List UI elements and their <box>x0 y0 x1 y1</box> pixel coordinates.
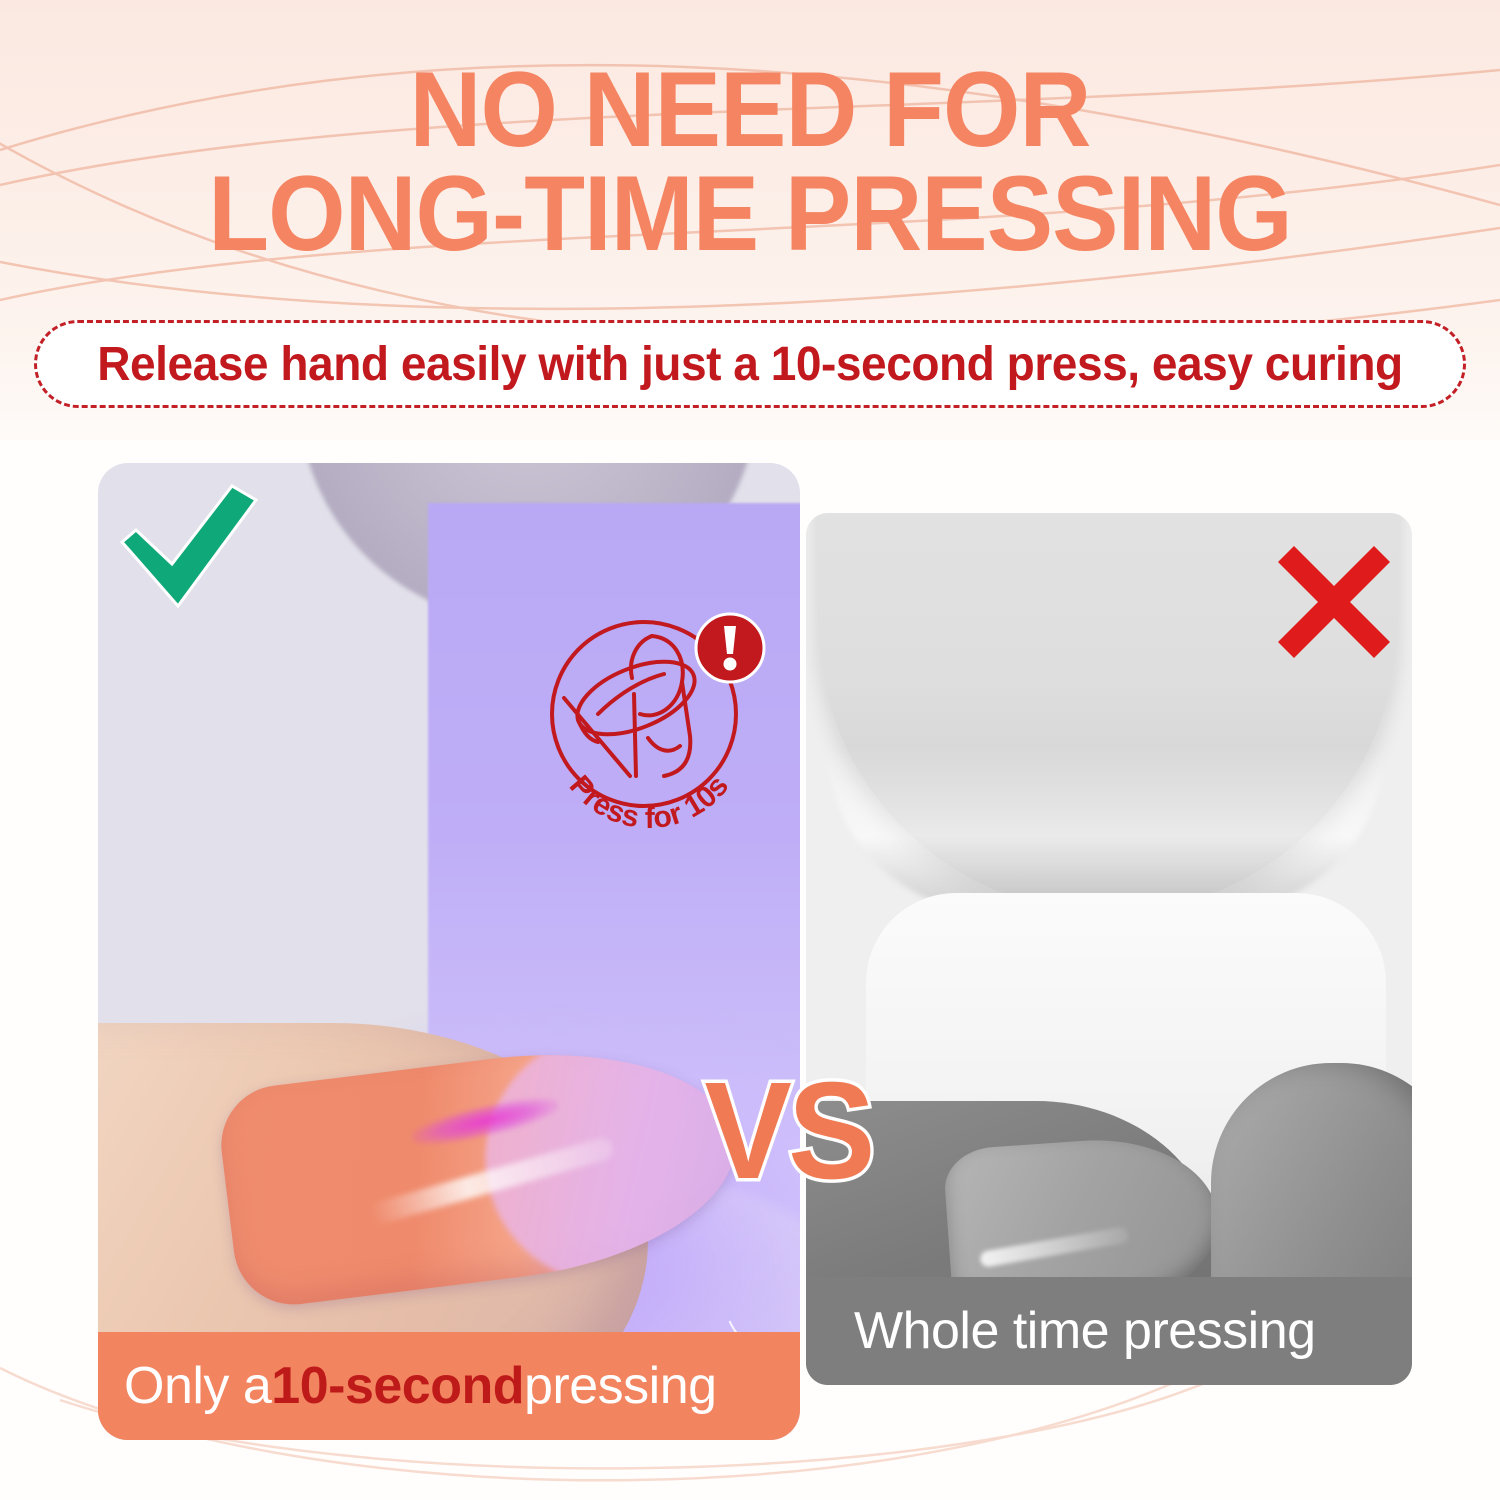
badge-label: Press for 10s <box>563 769 735 835</box>
caption-right-text: Whole time pressing <box>854 1301 1316 1361</box>
cross-icon <box>1272 540 1396 664</box>
page-headline: NO NEED FOR LONG-TIME PRESSING <box>53 58 1448 266</box>
pressed-nail-gloss <box>979 1226 1129 1268</box>
check-icon <box>116 480 266 620</box>
finger-pressing-nail-icon <box>564 636 705 776</box>
caption-left-bar: Only a 10-second pressing <box>98 1332 800 1440</box>
caption-right-bar: Whole time pressing <box>806 1277 1412 1385</box>
subtitle-banner: Release hand easily with just a 10-secon… <box>34 320 1466 408</box>
caption-left-highlight: 10-second <box>271 1356 524 1416</box>
lamp-rim <box>826 743 1386 913</box>
vs-label: VS <box>704 1052 871 1211</box>
caption-left-prefix: Only a <box>124 1356 271 1416</box>
press-for-10s-badge: Press for 10s <box>524 586 774 856</box>
subtitle-text: Release hand easily with just a 10-secon… <box>97 337 1403 392</box>
caption-left-suffix: pressing <box>524 1356 717 1416</box>
